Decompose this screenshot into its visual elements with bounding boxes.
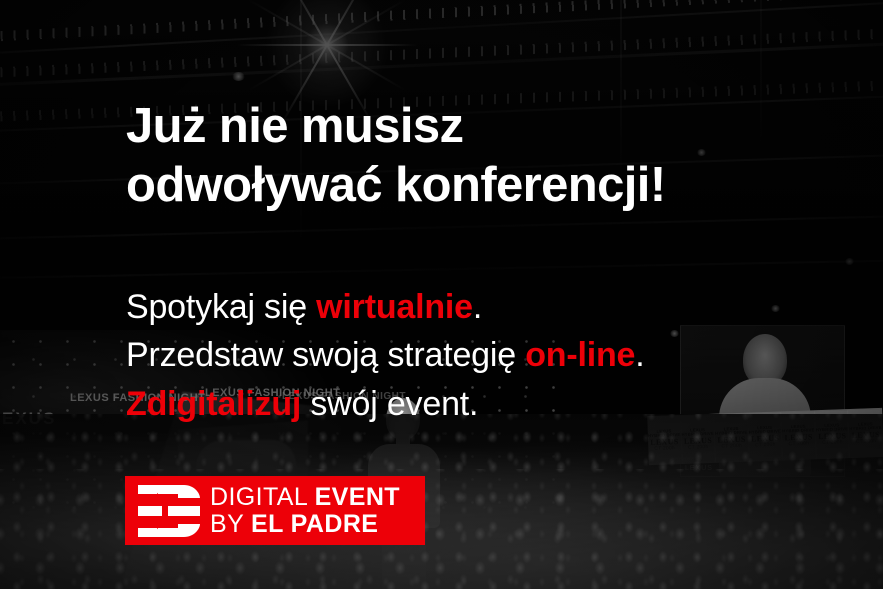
subheading-line-2: Przedstaw swoją strategię on-line. — [126, 331, 856, 379]
headline-line-2: odwoływać konferencji! — [126, 156, 846, 215]
subheading-1-after: . — [473, 288, 482, 326]
subheading-1-emphasis: wirtualnie — [316, 288, 473, 326]
banner-content: Już nie musisz odwoływać konferencji! Sp… — [0, 0, 883, 589]
subheading-1-before: Spotykaj się — [126, 288, 316, 326]
logo-badge[interactable]: DIGITAL EVENT BY EL PADRE — [125, 476, 425, 545]
headline: Już nie musisz odwoływać konferencji! — [126, 97, 846, 216]
subheading-2-after: . — [635, 336, 644, 374]
subheading-2-before: Przedstaw swoją strategię — [126, 336, 525, 374]
badge-by-text: BY — [210, 510, 251, 538]
badge-wordmark: DIGITAL EVENT BY EL PADRE — [210, 484, 400, 537]
promo-banner: EXUS LEXUS FASHION NIGHT LEXUS FASHION N… — [0, 0, 883, 589]
subheading: Spotykaj się wirtualnie. Przedstaw swoją… — [126, 283, 856, 428]
badge-line-1: DIGITAL EVENT — [210, 484, 400, 511]
subheading-line-1: Spotykaj się wirtualnie. — [126, 283, 856, 331]
badge-elpadre-text: EL PADRE — [251, 510, 378, 538]
subheading-3-after: swój event. — [301, 385, 478, 423]
badge-digital-text: DIGITAL — [210, 483, 315, 511]
subheading-line-3: Zdigitalizuj swój event. — [126, 380, 856, 428]
subheading-2-emphasis: on-line — [525, 336, 635, 374]
badge-event-text: EVENT — [315, 483, 400, 511]
subheading-3-emphasis: Zdigitalizuj — [126, 385, 301, 423]
badge-line-2: BY EL PADRE — [210, 511, 400, 538]
headline-line-1: Już nie musisz — [126, 97, 846, 156]
de-monogram-icon — [138, 485, 200, 537]
